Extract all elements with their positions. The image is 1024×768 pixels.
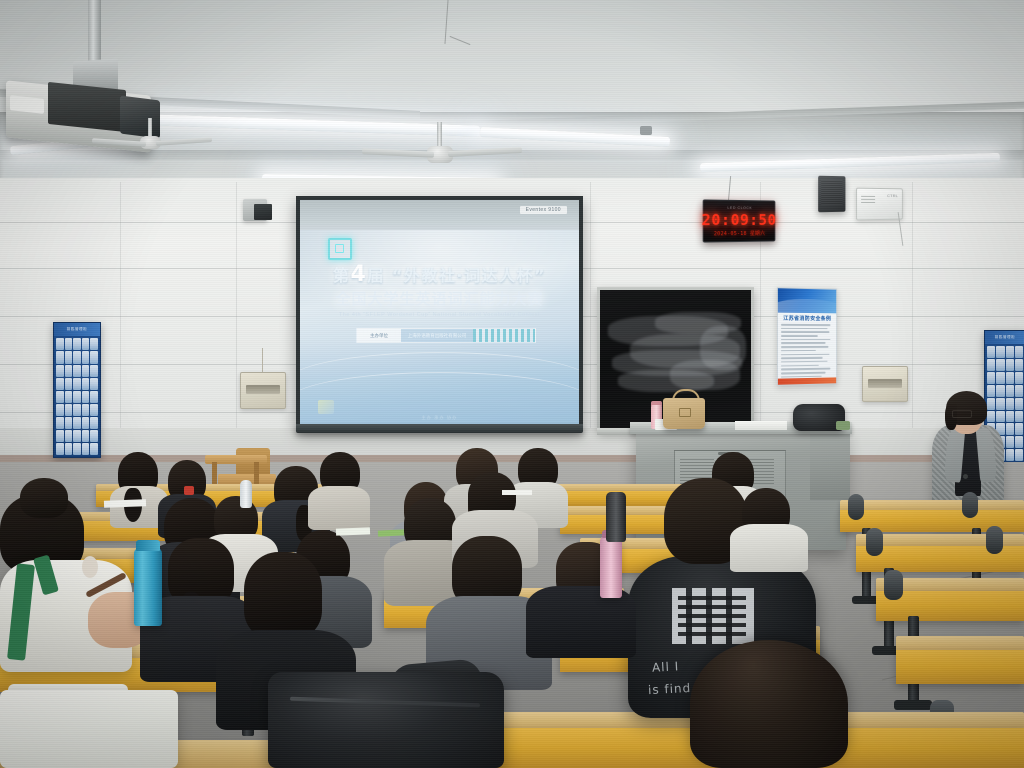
student-foreground-head-right <box>690 640 848 768</box>
wall-tile-vline-5 <box>912 182 913 470</box>
key-rack-cell[interactable] <box>987 411 995 423</box>
key-rack-cell[interactable] <box>73 430 81 442</box>
control-box-label: CTRL <box>887 193 898 198</box>
wall-tile-vline-3 <box>590 182 591 470</box>
key-rack-cell[interactable] <box>1006 398 1014 410</box>
key-rack-cell[interactable] <box>73 365 81 377</box>
key-rack-cell[interactable] <box>1006 411 1014 423</box>
bench-armrest-b3a <box>848 494 864 520</box>
wall-speaker <box>818 176 845 213</box>
projection-screen: Eventex 9100 第4届 “外教社·词达人杯” 全国大学生英语词汇能力大… <box>296 196 583 430</box>
key-rack-cell[interactable] <box>56 365 64 377</box>
key-rack-cell[interactable] <box>996 346 1004 358</box>
key-rack-cell[interactable] <box>1015 436 1023 448</box>
slide-title-line1: 第4届 “外教社·词达人杯” <box>300 262 579 287</box>
bench-leg-foot-d3a <box>894 700 932 710</box>
poster-body-text <box>778 323 836 386</box>
blazer-button-1 <box>963 474 968 479</box>
key-rack-cell[interactable] <box>56 443 64 455</box>
podium-papers[interactable] <box>735 421 787 430</box>
beige-handbag[interactable] <box>663 398 705 429</box>
key-rack-cell[interactable] <box>65 391 73 403</box>
slide-title-edition-number: 4 <box>351 262 368 287</box>
key-rack-cell[interactable] <box>65 338 73 350</box>
red-item[interactable] <box>184 486 194 495</box>
instructor-glasses <box>952 410 972 418</box>
bench-armrest-c3b <box>986 526 1003 554</box>
key-rack-cell[interactable] <box>1015 423 1023 435</box>
key-rack-cell[interactable] <box>82 443 90 455</box>
student-body-r1d <box>308 486 370 530</box>
paper-sheet-3[interactable] <box>502 490 532 495</box>
white-handbag[interactable] <box>0 690 178 768</box>
wall-tile-vline-2 <box>236 182 237 470</box>
key-rack-cell[interactable] <box>90 391 98 403</box>
air-vent-grille <box>254 204 272 220</box>
key-rack-cell[interactable] <box>82 417 90 429</box>
safety-notice-poster: 江苏省消防安全条例 <box>777 287 837 386</box>
screen-corner-label: Eventex 9100 <box>520 206 567 214</box>
key-rack-cell[interactable] <box>987 372 995 384</box>
key-rack-cell[interactable] <box>1006 346 1014 358</box>
key-rack-left[interactable]: 钥匙管理柜 <box>53 322 101 458</box>
key-rack-cell[interactable] <box>65 378 73 390</box>
key-rack-cell[interactable] <box>1006 436 1014 448</box>
projector-lens <box>120 96 160 139</box>
key-rack-cell[interactable] <box>82 365 90 377</box>
bench-armrest-c3a <box>866 528 883 556</box>
key-rack-left-grid[interactable] <box>54 336 100 457</box>
bench-armrest-b3b <box>962 492 978 518</box>
student-mask <box>82 556 98 578</box>
key-rack-cell[interactable] <box>65 404 73 416</box>
contest-logo-icon <box>328 238 352 260</box>
slide-footer-text: 主办 承办 协办 <box>300 415 579 421</box>
hoodie-text-line1: All I <box>652 659 680 674</box>
key-rack-cell[interactable] <box>56 351 64 363</box>
key-rack-cell[interactable] <box>56 378 64 390</box>
key-rack-cell[interactable] <box>996 398 1004 410</box>
key-rack-cell[interactable] <box>1006 423 1014 435</box>
slide-title-line2: 全国大学生英语词汇能力大赛 <box>300 288 579 309</box>
key-rack-cell[interactable] <box>56 338 64 350</box>
key-rack-cell[interactable] <box>996 372 1004 384</box>
key-rack-cell[interactable] <box>82 338 90 350</box>
electrical-panel-right <box>862 366 908 402</box>
slide-title-suffix: 届 “外教社·词达人杯” <box>367 266 546 285</box>
key-rack-cell[interactable] <box>65 417 73 429</box>
clock-brand-label: LED CLOCK <box>727 205 752 209</box>
slide-wave-graphic <box>300 338 579 426</box>
key-rack-cell[interactable] <box>1015 449 1023 461</box>
handbag-clasp <box>679 408 691 417</box>
key-rack-cell[interactable] <box>1015 346 1023 358</box>
key-rack-cell[interactable] <box>82 404 90 416</box>
key-rack-cell[interactable] <box>90 430 98 442</box>
key-rack-cell[interactable] <box>987 398 995 410</box>
panel-cord <box>262 348 263 373</box>
electrical-panel-slot <box>246 385 280 394</box>
poster-title: 江苏省消防安全条例 <box>778 315 836 323</box>
blue-bottle-cap <box>136 540 160 551</box>
key-rack-cell[interactable] <box>90 443 98 455</box>
slide-title-prefix: 第 <box>333 266 351 285</box>
key-rack-cell[interactable] <box>82 378 90 390</box>
hoodie-graphic-detail <box>678 596 746 636</box>
dark-bottle[interactable] <box>606 492 626 542</box>
screen-top-band <box>300 200 579 230</box>
key-rack-right-header: 钥匙管理柜 <box>985 331 1024 344</box>
key-rack-cell[interactable] <box>90 404 98 416</box>
key-rack-cell[interactable] <box>73 417 81 429</box>
key-rack-left-header: 钥匙管理柜 <box>54 323 100 336</box>
projector-body-dark <box>48 82 126 132</box>
key-rack-cell[interactable] <box>73 338 81 350</box>
key-rack-cell[interactable] <box>1015 372 1023 384</box>
key-rack-cell[interactable] <box>996 411 1004 423</box>
key-rack-cell[interactable] <box>996 359 1004 371</box>
key-rack-cell[interactable] <box>1015 398 1023 410</box>
key-rack-cell[interactable] <box>82 351 90 363</box>
key-rack-cell[interactable] <box>987 346 995 358</box>
key-rack-cell[interactable] <box>1015 359 1023 371</box>
student-head-m4 <box>244 552 322 638</box>
key-rack-cell[interactable] <box>1006 359 1014 371</box>
key-rack-cell[interactable] <box>65 351 73 363</box>
wall-tile-vline-1 <box>120 182 121 470</box>
control-box-grille <box>861 194 875 203</box>
key-rack-cell[interactable] <box>1006 372 1014 384</box>
podium-side-panel <box>810 434 850 500</box>
key-rack-cell[interactable] <box>56 417 64 429</box>
key-rack-cell[interactable] <box>1006 449 1014 461</box>
key-rack-cell[interactable] <box>987 359 995 371</box>
slide-corner-mark <box>318 400 334 414</box>
classroom-photo: Eventex 9100 第4届 “外教社·词达人杯” 全国大学生英语词汇能力大… <box>0 0 1024 768</box>
led-clock: LED CLOCK 20:09:50 2024-05-18 星期六 <box>703 199 776 242</box>
key-rack-cell[interactable] <box>90 351 98 363</box>
key-rack-cell[interactable] <box>65 443 73 455</box>
key-rack-cell[interactable] <box>73 378 81 390</box>
student-body-r3a <box>730 524 808 572</box>
key-rack-cell[interactable] <box>1015 411 1023 423</box>
key-rack-cell[interactable] <box>987 385 995 397</box>
key-rack-cell[interactable] <box>90 365 98 377</box>
paper-sheet-1[interactable] <box>104 499 146 507</box>
hoodie-text-line2: is find <box>648 681 692 697</box>
projection-screen-weight-bar <box>296 424 583 433</box>
paper-sheet-2[interactable] <box>336 527 370 535</box>
poster-header-band <box>778 288 836 313</box>
black-backpack[interactable] <box>268 672 504 768</box>
key-rack-cell[interactable] <box>82 391 90 403</box>
green-item[interactable] <box>836 421 850 430</box>
clock-time-display: 20:09:50 <box>701 210 776 229</box>
key-rack-cell[interactable] <box>73 404 81 416</box>
key-rack-cell[interactable] <box>65 430 73 442</box>
key-rack-cell[interactable] <box>56 404 64 416</box>
key-rack-cell[interactable] <box>90 378 98 390</box>
bench-armrest-d3 <box>884 570 903 600</box>
key-rack-cell[interactable] <box>56 391 64 403</box>
key-rack-cell[interactable] <box>90 417 98 429</box>
key-rack-cell[interactable] <box>73 391 81 403</box>
key-rack-cell[interactable] <box>73 443 81 455</box>
speaker-grille <box>821 180 842 205</box>
key-rack-cell[interactable] <box>73 351 81 363</box>
student-head-left-far <box>20 478 68 518</box>
key-rack-cell[interactable] <box>82 430 90 442</box>
wall-control-box: CTRL <box>856 188 903 221</box>
slide-subtitle-en: The 4th “SFLEP Wordsnet Cup” National St… <box>300 312 579 318</box>
blue-water-bottle[interactable] <box>134 548 162 626</box>
key-rack-cell[interactable] <box>1015 385 1023 397</box>
tube-end-cap <box>640 126 652 135</box>
projection-screen-surface: Eventex 9100 第4届 “外教社·词达人杯” 全国大学生英语词汇能力大… <box>300 200 579 426</box>
pink-water-bottle[interactable] <box>600 536 622 598</box>
key-rack-cell[interactable] <box>996 385 1004 397</box>
lecture-bench-front-e3 <box>896 650 1024 684</box>
key-rack-cell[interactable] <box>56 430 64 442</box>
key-rack-cell[interactable] <box>65 365 73 377</box>
key-rack-cell[interactable] <box>1006 385 1014 397</box>
clear-bottle[interactable] <box>240 480 252 508</box>
electrical-panel-right-slot <box>868 379 902 388</box>
electrical-panel <box>240 372 286 409</box>
projector-mount-pole <box>88 0 101 66</box>
key-rack-cell[interactable] <box>90 338 98 350</box>
clock-date-display: 2024-05-18 星期六 <box>714 229 765 236</box>
